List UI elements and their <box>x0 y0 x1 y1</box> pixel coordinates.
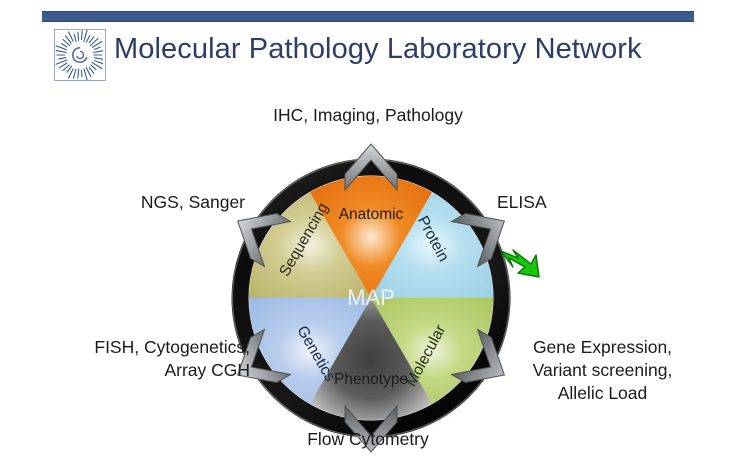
slide-canvas: Molecular Pathology Laboratory Network <box>0 0 736 475</box>
map-wheel-diagram: Anatomic Protein Molecular Phenotype Gen… <box>216 146 526 446</box>
outer-label-bottom-right: Gene Expression, Variant screening, Alle… <box>490 336 715 404</box>
outer-label-top: IHC, Imaging, Pathology <box>0 104 736 127</box>
segment-label-phenotype: Phenotype <box>334 371 408 388</box>
outer-label-top-left: NGS, Sanger <box>60 191 245 214</box>
wheel-center-label: MAP <box>347 285 395 310</box>
segment-label-anatomic: Anatomic <box>339 206 404 223</box>
outer-label-bottom-left: FISH, Cytogenetics, Array CGH <box>20 336 250 382</box>
green-arrow-icon <box>498 246 542 282</box>
outer-label-bottom: Flow Cytometry <box>0 428 736 451</box>
wheel-svg: Anatomic Protein Molecular Phenotype Gen… <box>216 146 526 446</box>
radial-burst-spiral-logo-icon <box>55 30 105 80</box>
mpln-logo <box>54 29 106 81</box>
outer-label-top-right: ELISA <box>497 191 697 214</box>
header-accent-bar <box>42 11 694 22</box>
page-title: Molecular Pathology Laboratory Network <box>114 33 642 66</box>
